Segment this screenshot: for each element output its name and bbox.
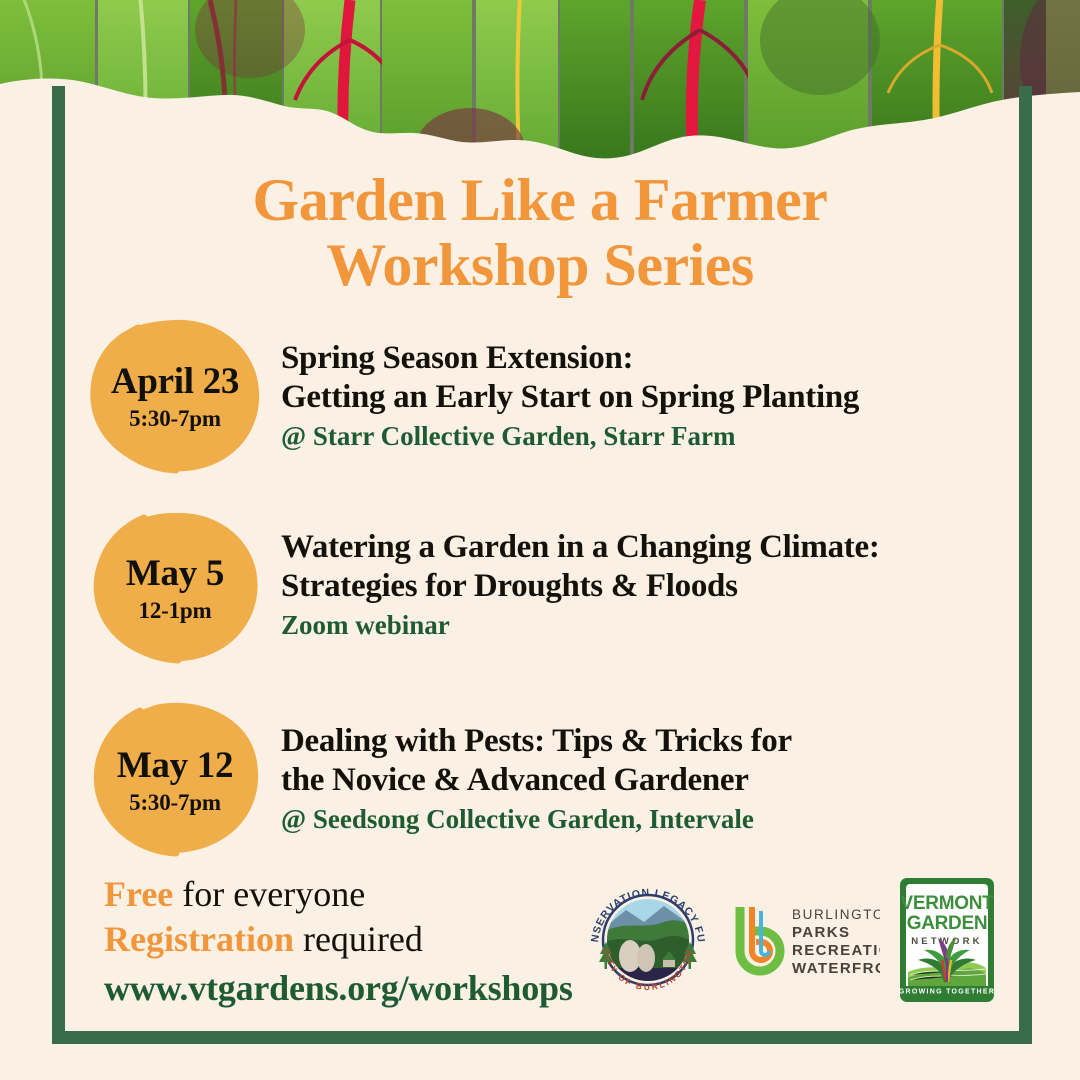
event-details: Spring Season Extension: Getting an Earl… [264,316,1016,453]
footer-free-rest: for everyone [173,874,365,914]
event-title-line-2: Strategies for Droughts & Floods [281,567,1016,606]
bprw-line-3: RECREATION [792,942,880,959]
footer-line-1: Free for everyone [104,872,584,917]
date-badge: May 5 12-1pm [86,508,264,668]
footer-registration-highlight: Registration [104,919,294,959]
badge-time: 5:30-7pm [129,407,221,430]
list-item: May 5 12-1pm Watering a Garden in a Chan… [86,508,1016,668]
badge-date: April 23 [111,363,239,400]
event-location: @ Seedsong Collective Garden, Intervale [281,803,1016,835]
footer: Free for everyone Registration required … [104,872,984,1010]
website-url[interactable]: www.vtgardens.org/workshops [104,967,584,1010]
event-details: Watering a Garden in a Changing Climate:… [264,508,1016,642]
event-location: Zoom webinar [281,609,1016,641]
event-title-line-1: Watering a Garden in a Changing Climate: [281,528,1016,567]
date-badge: April 23 5:30-7pm [86,316,264,476]
vgn-line-2: GARDEN [907,913,988,934]
list-item: May 12 5:30-7pm Dealing with Pests: Tips… [86,700,1016,860]
footer-line-2: Registration required [104,917,584,962]
footer-text-block: Free for everyone Registration required … [104,872,584,1010]
bprw-line-4: WATERFRONT [792,960,880,977]
vgn-banner-text: GROWING TOGETHER [899,989,996,996]
date-badge: May 12 5:30-7pm [86,700,264,860]
event-title-line-2: the Novice & Advanced Gardener [281,761,1016,800]
event-title-line-2: Getting an Early Start on Spring Plantin… [281,378,1016,417]
event-details: Dealing with Pests: Tips & Tricks for th… [264,700,1016,836]
poster-canvas: Garden Like a Farmer Workshop Series Apr… [0,0,1080,1080]
conservation-legacy-fund-logo: CONSERVATION LEGACY FUND CITY OF BURLING… [584,876,712,1004]
footer-free-highlight: Free [104,874,173,914]
page-title: Garden Like a Farmer Workshop Series [0,168,1080,298]
workshop-list: April 23 5:30-7pm Spring Season Extensio… [86,316,1016,892]
badge-date: May 5 [126,555,224,592]
badge-time: 12-1pm [139,599,212,622]
vgn-line-3: NETWORK [911,936,982,947]
event-location: @ Starr Collective Garden, Starr Farm [281,420,1016,452]
event-title-line-1: Dealing with Pests: Tips & Tricks for [281,722,1016,761]
bprw-line-1: BURLINGTON [792,907,880,922]
title-line-1: Garden Like a Farmer [253,167,828,233]
vermont-garden-network-logo: VERMONT GARDEN NETWORK [898,876,996,1004]
bprw-line-2: PARKS [792,924,850,941]
list-item: April 23 5:30-7pm Spring Season Extensio… [86,316,1016,476]
badge-time: 5:30-7pm [129,791,221,814]
footer-registration-rest: required [294,919,423,959]
event-title-line-1: Spring Season Extension: [281,339,1016,378]
logo-row: CONSERVATION LEGACY FUND CITY OF BURLING… [584,872,996,1004]
title-line-2: Workshop Series [0,233,1080,298]
vgn-line-1: VERMONT [901,893,995,914]
burlington-parks-recreation-waterfront-logo: BURLINGTON PARKS RECREATION WATERFRONT [730,901,880,979]
badge-date: May 12 [117,747,233,784]
